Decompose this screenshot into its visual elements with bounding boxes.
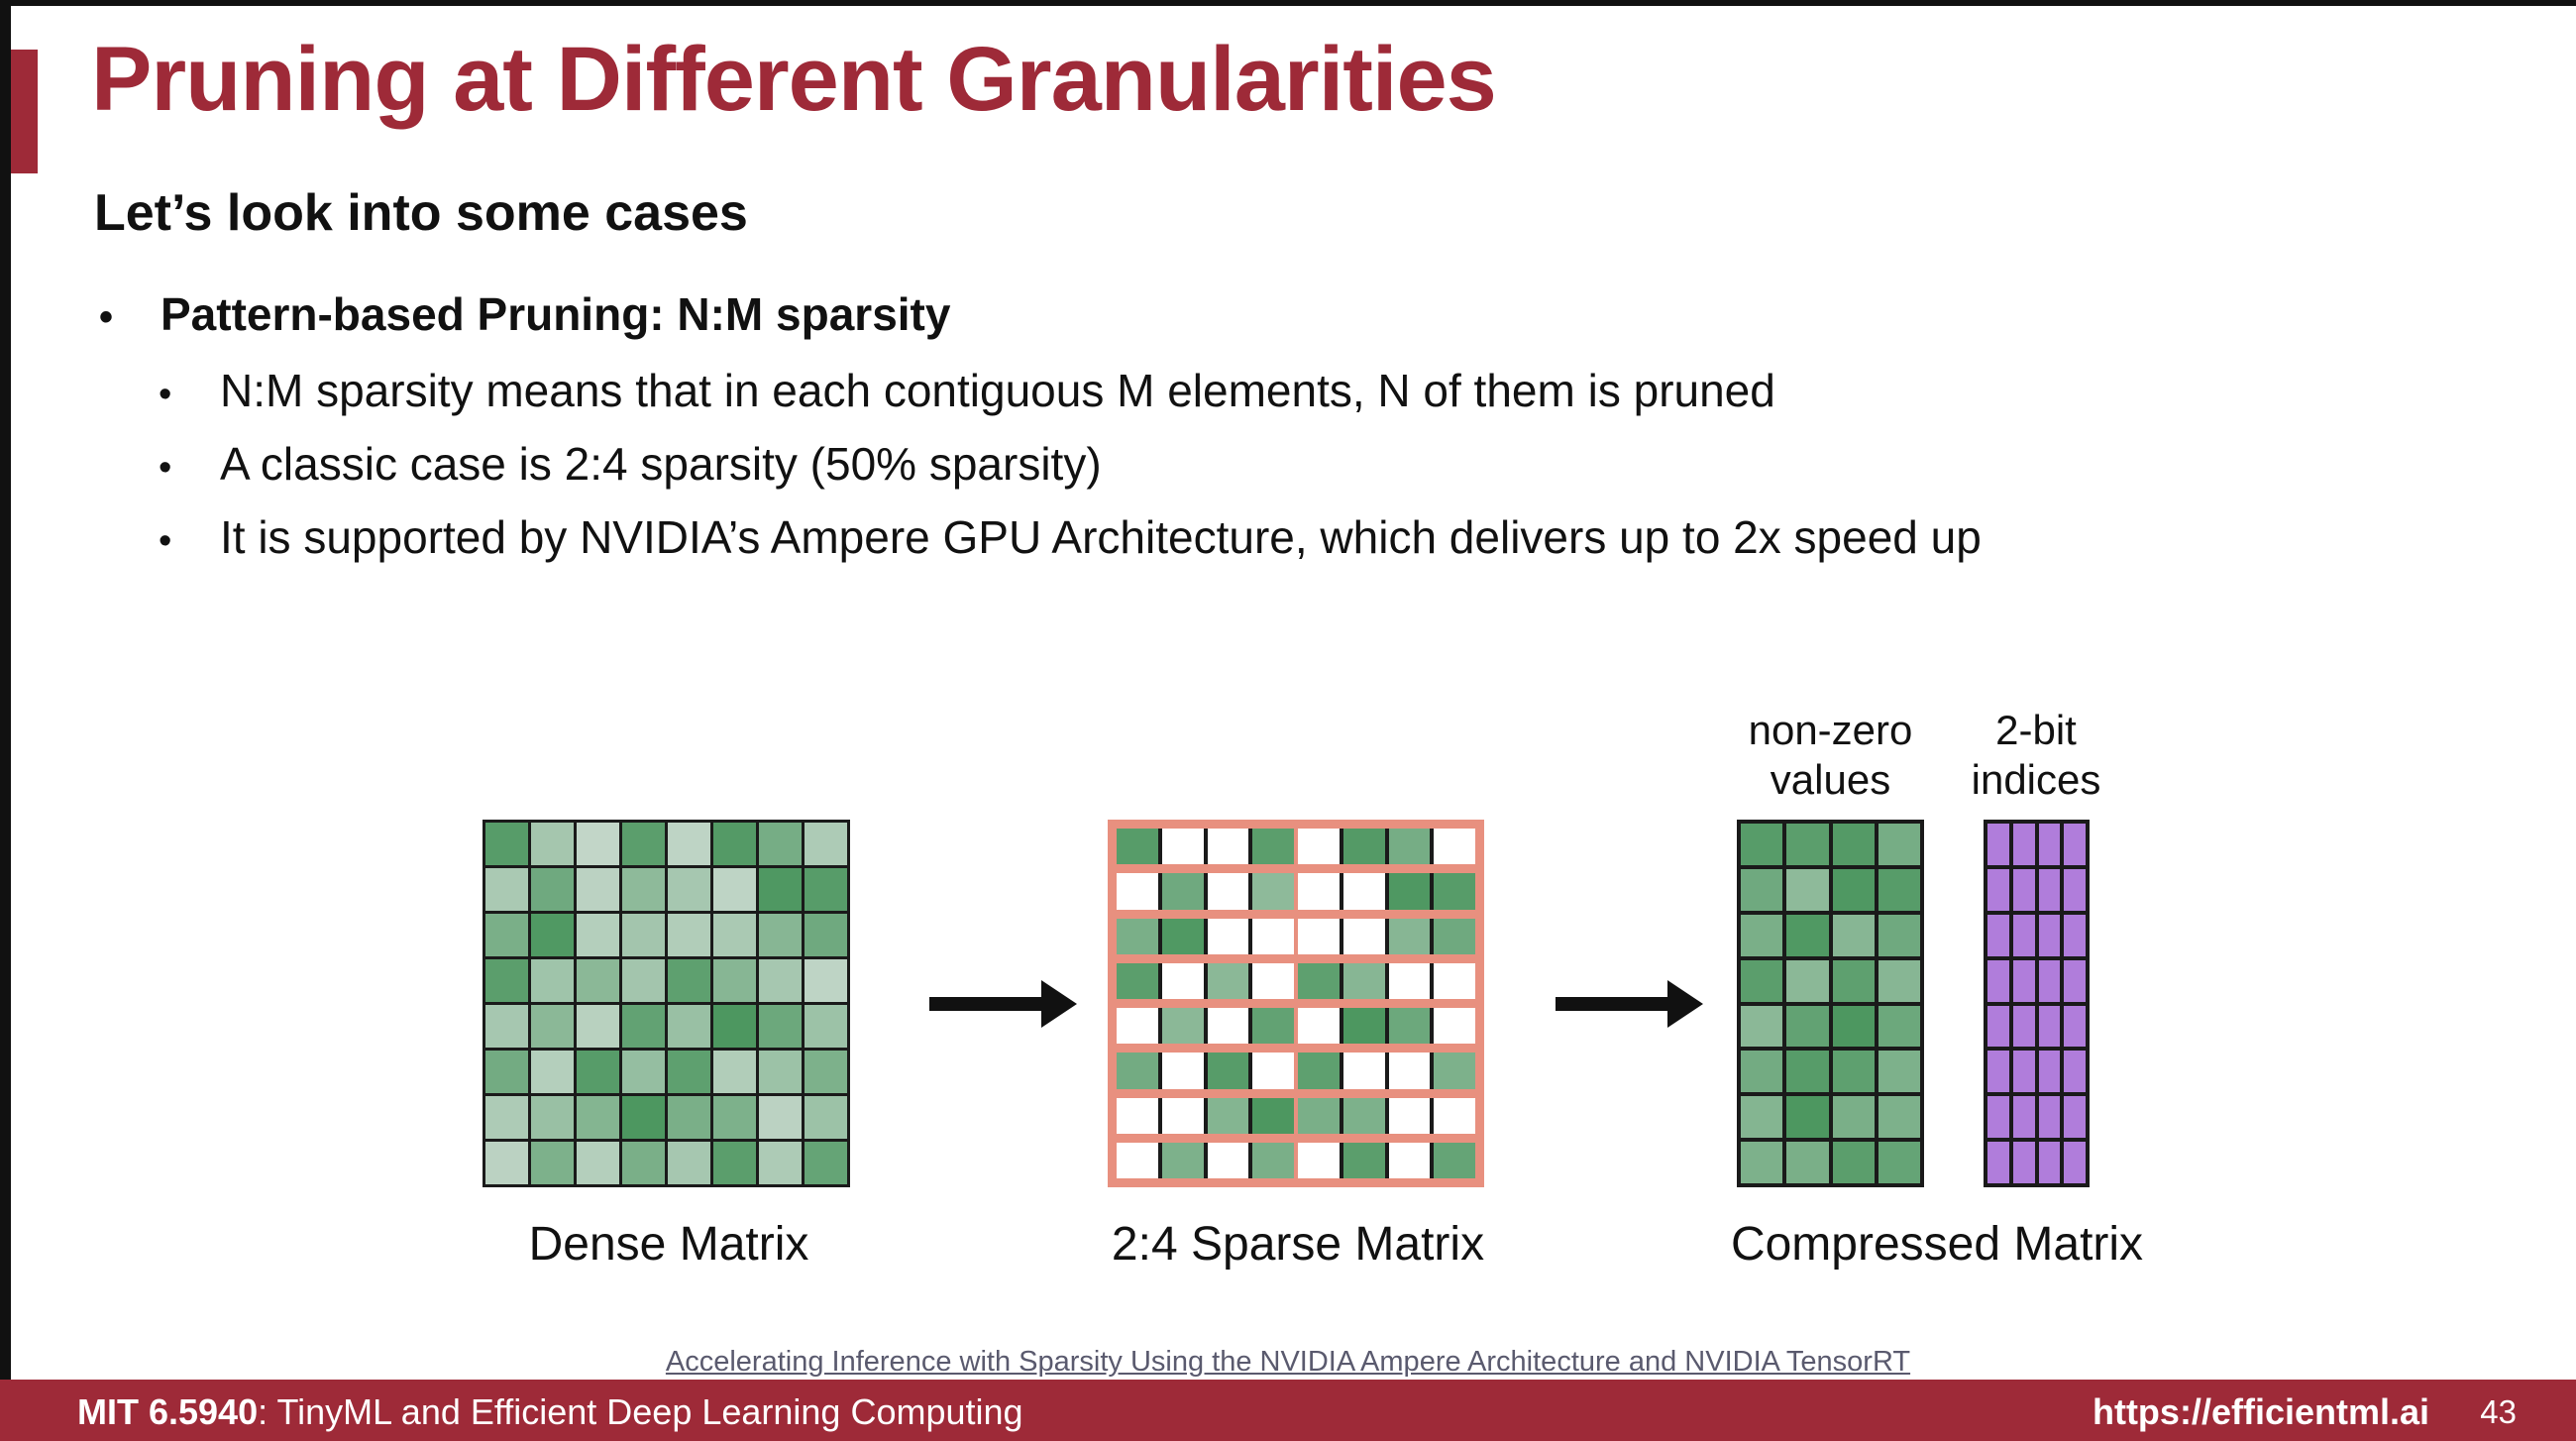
value-cell [713,1142,756,1184]
index-cell [1987,869,2009,911]
dense-matrix-grid [483,820,850,1187]
left-edge-strip [0,0,11,1380]
value-cell [713,1005,756,1048]
value-cell [759,1142,802,1184]
value-cell [1434,873,1475,909]
value-cell [1786,1006,1828,1048]
value-cell [1786,1096,1828,1138]
value-cell [668,1051,710,1093]
index-cell [2064,824,2086,865]
value-cell [1833,1051,1875,1092]
index-cell [2064,1096,2086,1138]
value-cell [1741,1006,1782,1048]
pruned-cell [1162,1098,1204,1134]
pruned-cell [1162,829,1204,864]
value-cell [1741,960,1782,1002]
pruned-cell [1298,919,1340,954]
pruned-cell [1343,1053,1385,1088]
pruned-cell [1434,1008,1475,1044]
value-cell [1741,869,1782,911]
value-cell [759,959,802,1002]
index-cell [2064,1142,2086,1183]
value-cell [1389,829,1431,864]
index-cell [2064,960,2086,1002]
pruned-cell [1208,829,1249,864]
value-cell [1117,963,1158,999]
top-rule [0,0,2576,6]
bullet-text: N:M sparsity means that in each contiguo… [220,365,1775,416]
value-cell [577,1005,619,1048]
footer-page-number: 43 [2480,1393,2517,1431]
value-cell [1833,1096,1875,1138]
index-cell [1987,915,2009,956]
index-cell [1987,1096,2009,1138]
pruned-cell [1208,1008,1249,1044]
value-cell [1298,1098,1340,1134]
value-cell [805,868,847,911]
value-cell [622,1051,665,1093]
bullet-level2-1: •A classic case is 2:4 sparsity (50% spa… [159,437,1102,491]
value-cell [485,914,528,956]
index-cell [1987,824,2009,865]
sparse-matrix-grid [1108,820,1484,1187]
value-cell [1343,829,1385,864]
pruned-cell [1117,1098,1158,1134]
value-cell [577,1051,619,1093]
value-cell [1878,1006,1920,1048]
value-cell [1833,960,1875,1002]
index-cell [2039,869,2061,911]
value-cell [759,1096,802,1139]
value-cell [1208,963,1249,999]
caption-compressed-matrix: Compressed Matrix [1679,1217,2195,1272]
value-cell [577,868,619,911]
footer-course-code: MIT 6.5940 [77,1391,258,1432]
index-cell [2039,824,2061,865]
value-cell [1343,1098,1385,1134]
value-cell [1389,1008,1431,1044]
value-cell [485,1005,528,1048]
pruned-cell [1162,1053,1204,1088]
value-cell [622,868,665,911]
value-cell [531,823,574,865]
pruned-cell [1208,1143,1249,1178]
bullet-marker: • [99,295,161,340]
value-cell [1786,915,1828,956]
value-cell [622,914,665,956]
value-cell [805,959,847,1002]
compressed-indices-grid [1984,820,2090,1187]
value-cell [1833,1142,1875,1183]
value-cell [1343,1008,1385,1044]
value-cell [531,1142,574,1184]
value-cell [759,1005,802,1048]
value-cell [1434,1143,1475,1178]
arrow-right-icon [929,997,1043,1011]
bullet-level2-0: •N:M sparsity means that in each contigu… [159,364,1775,417]
value-cell [531,868,574,911]
value-cell [1434,919,1475,954]
value-cell [1741,1051,1782,1092]
index-cell [1987,1142,2009,1183]
value-cell [531,959,574,1002]
value-cell [1389,919,1431,954]
pruned-cell [1117,1143,1158,1178]
pruned-cell [1208,919,1249,954]
value-cell [805,1005,847,1048]
value-cell [1878,915,1920,956]
index-cell [2013,1051,2035,1092]
bullet-marker: • [159,447,220,490]
value-cell [577,1142,619,1184]
label-line: indices [1947,755,2125,805]
value-cell [668,1096,710,1139]
value-cell [1208,1098,1249,1134]
pruned-cell [1389,1053,1431,1088]
index-cell [1987,960,2009,1002]
index-cell [2064,915,2086,956]
pruned-cell [1117,1008,1158,1044]
value-cell [485,823,528,865]
index-cell [2013,960,2035,1002]
value-cell [531,914,574,956]
index-cell [2039,1096,2061,1138]
bullet-marker: • [159,520,220,563]
value-cell [1162,1008,1204,1044]
value-cell [1741,915,1782,956]
value-cell [1741,824,1782,865]
pruned-cell [1389,963,1431,999]
pruned-cell [1252,919,1294,954]
citation-link[interactable]: Accelerating Inference with Sparsity Usi… [0,1346,2576,1379]
pruned-cell [1162,963,1204,999]
bullet-level2-2: •It is supported by NVIDIA’s Ampere GPU … [159,510,1982,564]
value-cell [485,1142,528,1184]
bullet-level1-0: •Pattern-based Pruning: N:M sparsity [99,287,950,341]
value-cell [1252,1098,1294,1134]
value-cell [668,914,710,956]
value-cell [531,1096,574,1139]
pruned-cell [1343,919,1385,954]
value-cell [1833,869,1875,911]
footer-url[interactable]: https://efficientml.ai [2093,1391,2429,1433]
index-cell [2013,915,2035,956]
index-cell [2064,869,2086,911]
value-cell [805,823,847,865]
bullet-marker: • [159,374,220,416]
value-cell [668,1142,710,1184]
value-cell [805,1051,847,1093]
value-cell [1878,1142,1920,1183]
slide: Pruning at Different Granularities Let’s… [0,0,2576,1441]
value-cell [805,914,847,956]
value-cell [1252,873,1294,909]
index-cell [2039,1142,2061,1183]
value-cell [713,823,756,865]
value-cell [1878,1051,1920,1092]
caption-dense-matrix: Dense Matrix [426,1217,912,1272]
footer-course-name: : TinyML and Efficient Deep Learning Com… [258,1391,1022,1432]
value-cell [1162,873,1204,909]
value-cell [1389,873,1431,909]
index-cell [2013,1142,2035,1183]
index-cell [2039,960,2061,1002]
value-cell [622,959,665,1002]
caption-sparse-matrix: 2:4 Sparse Matrix [1055,1217,1541,1272]
pruned-cell [1298,873,1340,909]
value-cell [531,1005,574,1048]
value-cell [1162,919,1204,954]
value-cell [1786,824,1828,865]
footer-course: MIT 6.5940: TinyML and Efficient Deep Le… [77,1391,1023,1433]
pruned-cell [1208,873,1249,909]
value-cell [577,914,619,956]
value-cell [622,1096,665,1139]
pruned-cell [1252,1053,1294,1088]
value-cell [713,1051,756,1093]
value-cell [805,1142,847,1184]
value-cell [759,914,802,956]
index-cell [1987,1051,2009,1092]
value-cell [1786,869,1828,911]
index-cell [2013,1006,2035,1048]
value-cell [1878,960,1920,1002]
value-cell [1878,869,1920,911]
index-cell [2013,869,2035,911]
value-cell [713,914,756,956]
bit-indices-label: 2-bitindices [1947,706,2125,804]
pruned-cell [1252,963,1294,999]
index-cell [2064,1051,2086,1092]
value-cell [1833,1006,1875,1048]
value-cell [1117,1053,1158,1088]
index-cell [2039,1051,2061,1092]
value-cell [1343,1143,1385,1178]
value-cell [485,1051,528,1093]
value-cell [1741,1142,1782,1183]
index-cell [1987,1006,2009,1048]
value-cell [1741,1096,1782,1138]
pruned-cell [1389,1098,1431,1134]
value-cell [1252,1143,1294,1178]
value-cell [622,1005,665,1048]
index-cell [2064,1006,2086,1048]
compressed-values-grid [1737,820,1924,1187]
value-cell [531,1051,574,1093]
value-cell [1252,829,1294,864]
value-cell [1434,1053,1475,1088]
value-cell [622,823,665,865]
value-cell [1162,1143,1204,1178]
value-cell [622,1142,665,1184]
value-cell [805,1096,847,1139]
value-cell [485,1096,528,1139]
pruned-cell [1298,1008,1340,1044]
label-line: 2-bit [1947,706,2125,755]
value-cell [668,1005,710,1048]
value-cell [668,959,710,1002]
page-subtitle: Let’s look into some cases [94,183,748,243]
value-cell [577,959,619,1002]
value-cell [577,823,619,865]
footer-bar: MIT 6.5940: TinyML and Efficient Deep Le… [0,1380,2576,1441]
value-cell [668,868,710,911]
label-line: values [1719,755,1942,805]
value-cell [1208,1053,1249,1088]
value-cell [1833,915,1875,956]
index-cell [2039,915,2061,956]
value-cell [1298,1053,1340,1088]
index-cell [2013,824,2035,865]
value-cell [1786,960,1828,1002]
pruned-cell [1298,829,1340,864]
index-cell [2013,1096,2035,1138]
pruned-cell [1117,873,1158,909]
value-cell [1878,1096,1920,1138]
value-cell [1786,1142,1828,1183]
label-line: non-zero [1719,706,1942,755]
value-cell [1298,963,1340,999]
pruned-cell [1434,1098,1475,1134]
value-cell [713,959,756,1002]
value-cell [577,1096,619,1139]
bullet-text: A classic case is 2:4 sparsity (50% spar… [220,438,1102,490]
value-cell [713,1096,756,1139]
value-cell [759,823,802,865]
pruned-cell [1434,963,1475,999]
value-cell [1252,1008,1294,1044]
index-cell [2039,1006,2061,1048]
pruned-cell [1298,1143,1340,1178]
value-cell [1878,824,1920,865]
value-cell [485,868,528,911]
value-cell [1117,919,1158,954]
page-title: Pruning at Different Granularities [91,32,2271,128]
bullet-text: Pattern-based Pruning: N:M sparsity [161,288,950,340]
value-cell [1343,963,1385,999]
title-accent-bar [11,50,38,173]
nonzero-values-label: non-zerovalues [1719,706,1942,804]
pruned-cell [1389,1143,1431,1178]
value-cell [485,959,528,1002]
value-cell [1833,824,1875,865]
bullet-text: It is supported by NVIDIA’s Ampere GPU A… [220,511,1982,563]
value-cell [713,868,756,911]
value-cell [1786,1051,1828,1092]
value-cell [1117,829,1158,864]
value-cell [759,868,802,911]
pruned-cell [1434,829,1475,864]
arrow-right-icon [1556,997,1669,1011]
value-cell [668,823,710,865]
value-cell [759,1051,802,1093]
pruned-cell [1343,873,1385,909]
